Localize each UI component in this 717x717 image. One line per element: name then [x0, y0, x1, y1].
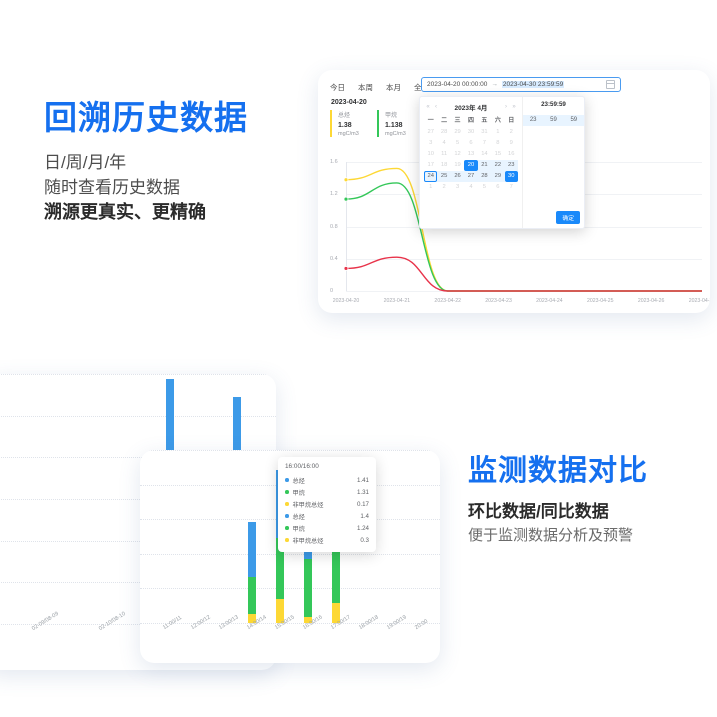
calendar-panel: « ‹ 2023年 4月 › » 一二三四五六日2728293031123456… — [420, 97, 523, 228]
weekday-header: 三 — [451, 115, 464, 127]
calendar-day[interactable]: 15 — [491, 149, 504, 160]
calendar-day[interactable]: 2 — [505, 127, 518, 138]
calendar-day[interactable]: 3 — [451, 182, 464, 193]
calendar-day[interactable]: 10 — [424, 149, 437, 160]
weekday-header: 五 — [478, 115, 491, 127]
bar-segment — [248, 522, 256, 577]
calendar-day[interactable]: 14 — [478, 149, 491, 160]
tooltip-row: 总烃1.41 — [285, 474, 369, 486]
calendar-day[interactable]: 2 — [437, 182, 450, 193]
metric-card-0: 总烃1.38mgC/m3 — [330, 110, 377, 137]
weekday-header: 六 — [491, 115, 504, 127]
calendar-day[interactable]: 3 — [424, 138, 437, 149]
series-color-dot — [285, 502, 289, 506]
calendar-day[interactable]: 8 — [491, 138, 504, 149]
calendar-day[interactable]: 29 — [451, 127, 464, 138]
gridline — [0, 374, 276, 375]
x-axis-label: 20:00 — [414, 619, 429, 632]
series-value: 1.4 — [360, 513, 369, 520]
series-color-dot — [285, 538, 289, 542]
next-year-icon[interactable]: » — [510, 104, 518, 110]
promo-page: 回溯历史数据 日/周/月/年 随时查看历史数据 溯源更真实、更精确 今日 本周 … — [0, 0, 717, 717]
gridline — [140, 588, 440, 589]
history-sub-3: 溯源更真实、更精确 — [44, 200, 248, 225]
preset-month[interactable]: 本月 — [386, 82, 401, 93]
series-name: 非甲烷总烃 — [293, 536, 361, 545]
calendar-title: 2023年 4月 — [440, 102, 502, 112]
range-preset-toolbar: 今日 本周 本月 全年 — [330, 82, 429, 93]
series-name: 总烃 — [293, 476, 357, 485]
calendar-day[interactable]: 6 — [491, 182, 504, 193]
metric-unit: mgC/m3 — [338, 131, 377, 137]
time-panel-title: 23:59:59 — [523, 101, 584, 113]
gridline — [140, 450, 440, 451]
series-color-dot — [285, 490, 289, 494]
range-separator: → — [491, 81, 498, 88]
preset-week[interactable]: 本周 — [358, 82, 373, 93]
history-headline: 回溯历史数据 — [44, 98, 248, 138]
calendar-grid[interactable]: 一二三四五六日272829303112345678910111213141516… — [424, 115, 518, 193]
bar-segment — [332, 548, 340, 603]
time-panel: 23:59:59 235959 确定 — [523, 97, 584, 228]
calendar-day[interactable]: 9 — [505, 138, 518, 149]
series-name: 甲烷 — [293, 524, 357, 533]
series-name: 非甲烷总烃 — [293, 500, 357, 509]
time-part[interactable]: 59 — [564, 115, 584, 126]
calendar-day[interactable]: 24 — [424, 171, 437, 182]
series-value: 1.31 — [357, 489, 369, 496]
calendar-day[interactable]: 19 — [451, 160, 464, 171]
weekday-header: 一 — [424, 115, 437, 127]
series-name: 甲烷 — [293, 488, 357, 497]
series-value: 0.17 — [357, 501, 369, 508]
calendar-day[interactable]: 23 — [505, 160, 518, 171]
history-sub-1: 日/周/月/年 — [44, 150, 248, 175]
calendar-day[interactable]: 4 — [437, 138, 450, 149]
prev-year-icon[interactable]: « — [424, 104, 432, 110]
calendar-day[interactable]: 5 — [478, 182, 491, 193]
tooltip-row: 甲烷1.31 — [285, 486, 369, 498]
stacked-bar — [248, 522, 256, 623]
tooltip-row: 非甲烷总烃0.17 — [285, 498, 369, 510]
compare-headline: 监测数据对比 — [468, 452, 648, 490]
calendar-day[interactable]: 25 — [437, 171, 450, 182]
x-axis-label: 02-10/08-10 — [98, 611, 127, 632]
bar-segment — [304, 559, 312, 617]
tooltip-row: 非甲烷总烃0.3 — [285, 534, 369, 546]
calendar-day[interactable]: 30 — [505, 171, 518, 182]
calendar-day[interactable]: 17 — [424, 160, 437, 171]
calendar-day[interactable]: 1 — [491, 127, 504, 138]
calendar-day[interactable]: 13 — [464, 149, 477, 160]
calendar-icon[interactable] — [606, 80, 615, 89]
calendar-day[interactable]: 6 — [464, 138, 477, 149]
calendar-day[interactable]: 27 — [464, 171, 477, 182]
range-start-value[interactable]: 2023-04-20 00:00:00 — [427, 81, 487, 88]
calendar-day[interactable]: 12 — [451, 149, 464, 160]
prev-month-icon[interactable]: ‹ — [432, 104, 440, 110]
calendar-day[interactable]: 5 — [451, 138, 464, 149]
date-range-picker-popup[interactable]: « ‹ 2023年 4月 › » 一二三四五六日2728293031123456… — [419, 96, 585, 229]
next-month-icon[interactable]: › — [502, 104, 510, 110]
weekday-header: 二 — [437, 115, 450, 127]
calendar-day[interactable]: 28 — [478, 171, 491, 182]
compare-sub-2: 便于监测数据分析及预警 — [468, 524, 648, 548]
series-color-dot — [285, 526, 289, 530]
tooltip-row: 总烃1.4 — [285, 510, 369, 522]
series-value: 0.3 — [360, 537, 369, 544]
time-part[interactable]: 59 — [543, 115, 563, 126]
tooltip-row: 甲烷1.24 — [285, 522, 369, 534]
calendar-day[interactable]: 26 — [451, 171, 464, 182]
calendar-day[interactable]: 30 — [464, 127, 477, 138]
series-color-dot — [285, 514, 289, 518]
series-value: 1.24 — [357, 525, 369, 532]
range-end-value[interactable]: 2023-04-30 23:59:59 — [502, 81, 564, 88]
metric-value: 1.38 — [338, 122, 377, 129]
preset-today[interactable]: 今日 — [330, 82, 345, 93]
calendar-day[interactable]: 16 — [505, 149, 518, 160]
calendar-header: « ‹ 2023年 4月 › » — [424, 101, 518, 113]
history-sub-2: 随时查看历史数据 — [44, 175, 248, 200]
calendar-day[interactable]: 27 — [424, 127, 437, 138]
gridline — [140, 554, 440, 555]
weekday-header: 四 — [464, 115, 477, 127]
series-name: 总烃 — [293, 512, 361, 521]
date-range-input[interactable]: 2023-04-20 00:00:00 → 2023-04-30 23:59:5… — [421, 77, 621, 92]
x-axis-label: 02-09/08-09 — [31, 611, 60, 632]
calendar-day[interactable]: 28 — [437, 127, 450, 138]
calendar-day[interactable]: 4 — [464, 182, 477, 193]
calendar-day[interactable]: 20 — [464, 160, 477, 171]
tooltip-title: 16:00/16:00 — [285, 463, 369, 470]
calendar-day[interactable]: 29 — [491, 171, 504, 182]
calendar-day[interactable]: 11 — [437, 149, 450, 160]
calendar-day[interactable]: 21 — [478, 160, 491, 171]
metric-name: 总烃 — [338, 110, 377, 119]
compare-sub-1: 环比数据/同比数据 — [468, 500, 648, 524]
series-value: 1.41 — [357, 477, 369, 484]
compare-text-block: 监测数据对比 环比数据/同比数据 便于监测数据分析及预警 — [468, 452, 648, 548]
series-color-dot — [285, 478, 289, 482]
history-text-block: 回溯历史数据 日/周/月/年 随时查看历史数据 溯源更真实、更精确 — [44, 98, 248, 225]
calendar-day[interactable]: 1 — [424, 182, 437, 193]
weekday-header: 日 — [505, 115, 518, 127]
time-part[interactable]: 23 — [523, 115, 543, 126]
confirm-button[interactable]: 确定 — [556, 211, 580, 224]
calendar-day[interactable]: 31 — [478, 127, 491, 138]
chart-tooltip: 16:00/16:00 总烃1.41甲烷1.31非甲烷总烃0.17总烃1.4甲烷… — [278, 457, 376, 552]
history-dashboard-card: 今日 本周 本月 全年 2023-04-20 00:00:00 → 2023-0… — [318, 70, 710, 313]
time-parts-row[interactable]: 235959 — [523, 115, 584, 126]
calendar-day[interactable]: 7 — [478, 138, 491, 149]
calendar-day[interactable]: 22 — [491, 160, 504, 171]
calendar-day[interactable]: 7 — [505, 182, 518, 193]
calendar-day[interactable]: 18 — [437, 160, 450, 171]
bar-segment — [248, 577, 256, 613]
metric-card-1: 甲烷1.138mgC/m3 — [377, 110, 424, 137]
selected-date-label: 2023-04-20 — [331, 99, 367, 106]
